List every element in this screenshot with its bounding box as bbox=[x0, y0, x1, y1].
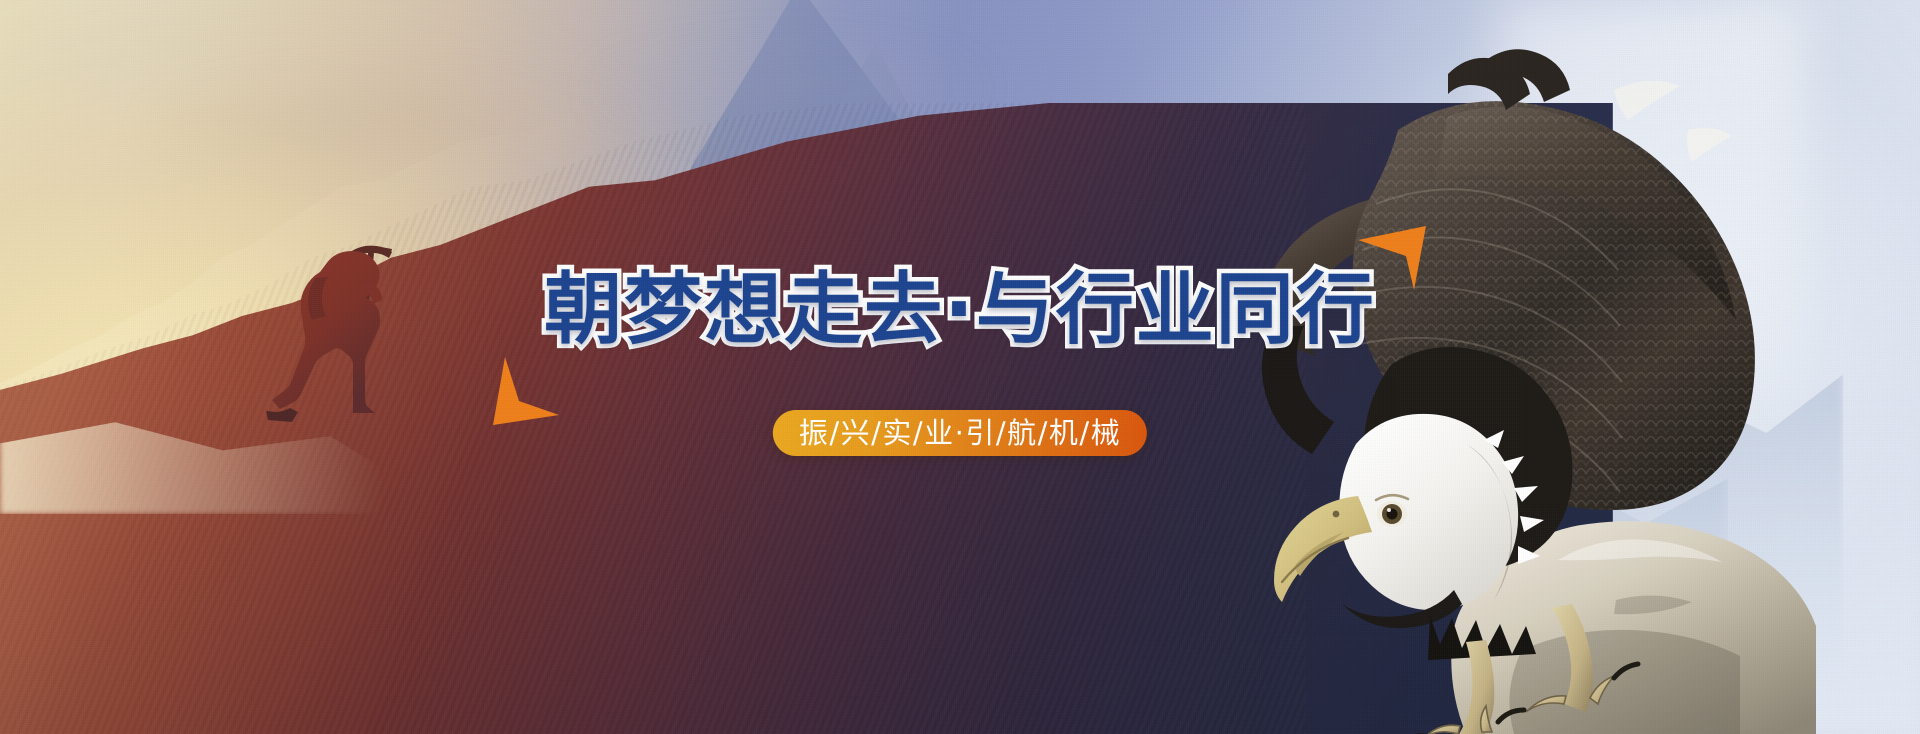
banner-subtitle-pill: 振/兴/实/业·引/航/机/械 bbox=[773, 410, 1147, 456]
banner-subtitle-text: 振/兴/实/业·引/航/机/械 bbox=[799, 419, 1121, 448]
bald-eagle bbox=[1186, 44, 1920, 734]
banner-headline: 朝梦想走去·与行业同行 bbox=[544, 247, 1376, 359]
mountain-climber-silhouette bbox=[232, 222, 432, 432]
hero-banner: 朝梦想走去·与行业同行 振/兴/实/业·引/航/机/械 bbox=[0, 0, 1920, 734]
corner-bracket-bottom-left-icon bbox=[487, 355, 561, 429]
